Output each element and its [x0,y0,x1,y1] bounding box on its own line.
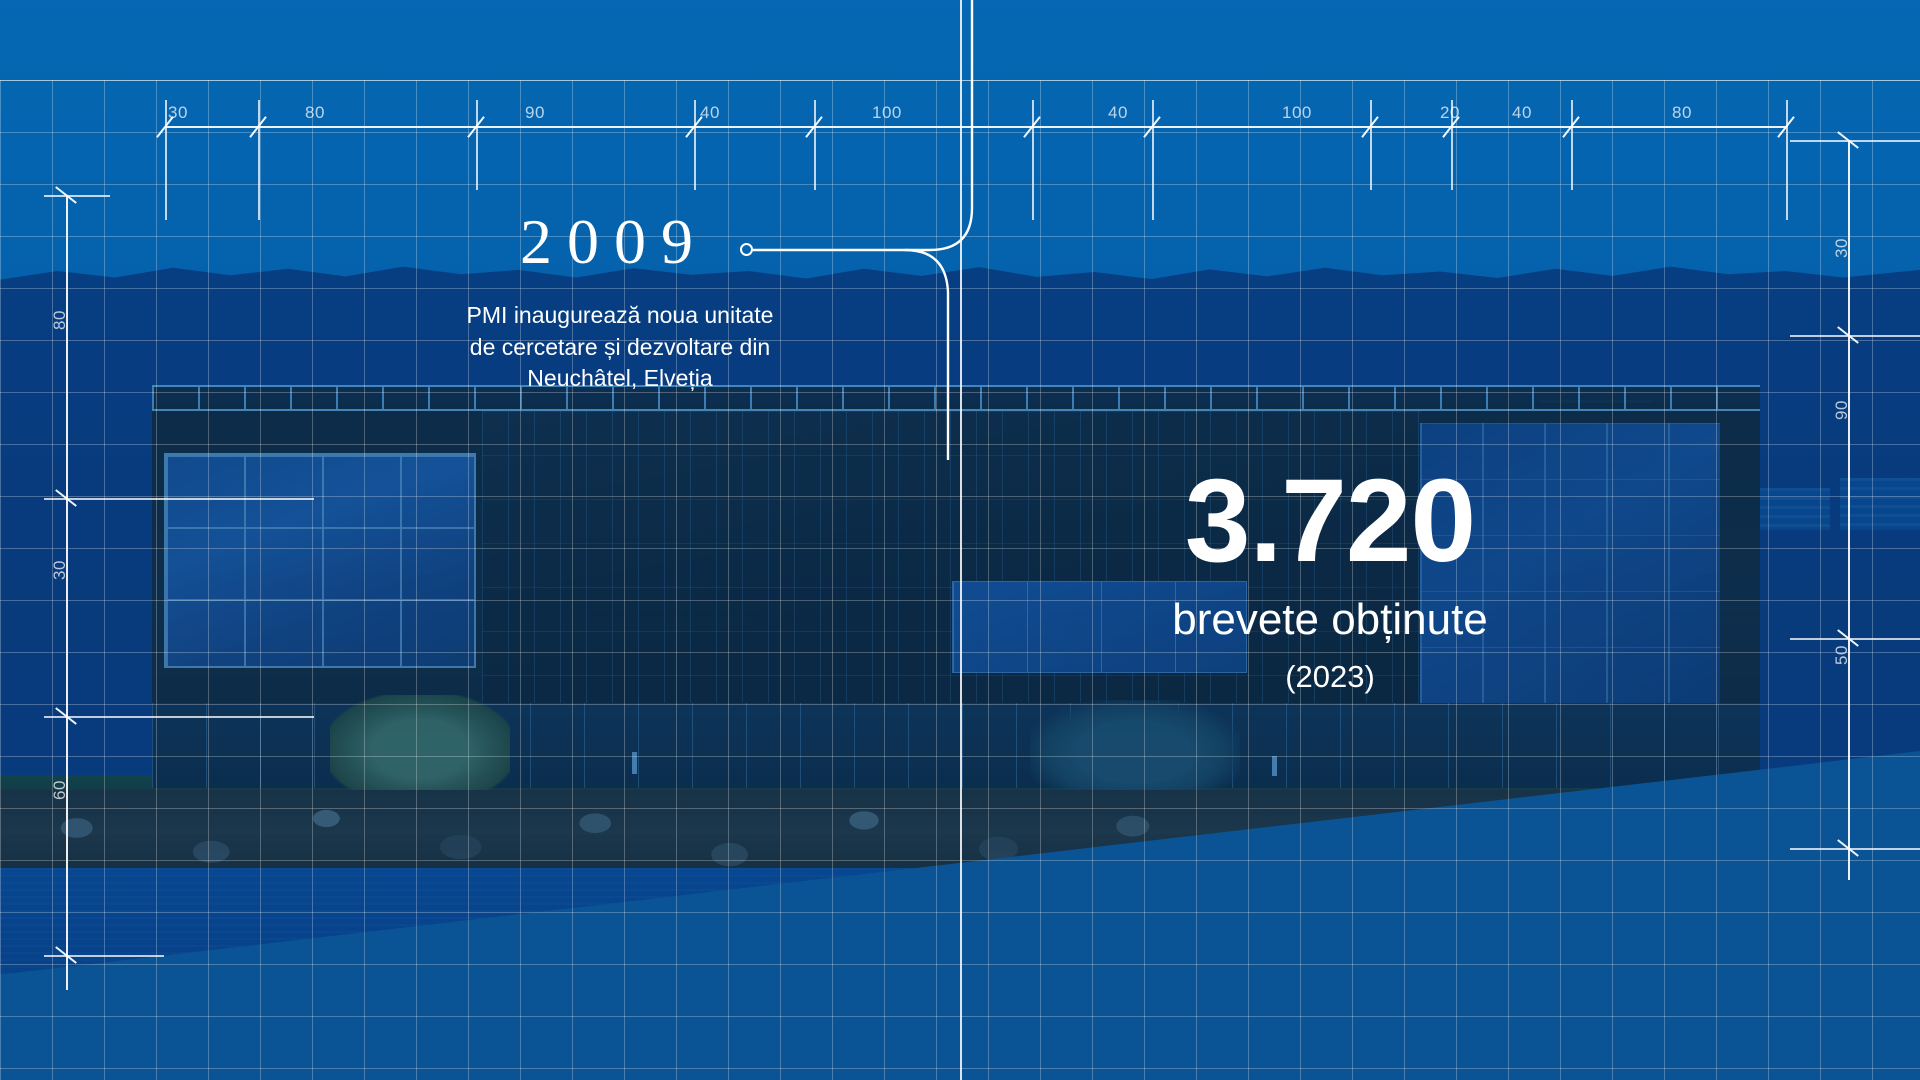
dim-label-top-9: 80 [1672,103,1692,123]
circle-node-icon [740,243,753,256]
dim-label-right-1: 90 [1832,400,1852,420]
statistic-year: (2023) [1000,659,1660,695]
center-seam-line [960,0,962,1080]
caption-line-2: de cercetare și dezvoltare din [440,332,800,364]
dim-label-top-4: 100 [872,103,902,123]
dim-label-top-2: 90 [525,103,545,123]
milestone-caption: PMI inaugurează noua unitate de cercetar… [440,300,800,395]
dim-label-right-2: 50 [1832,645,1852,665]
dim-label-top-8: 40 [1512,103,1532,123]
dim-label-top-5: 40 [1108,103,1128,123]
dim-label-left-0: 80 [50,310,70,330]
dim-label-top-3: 40 [700,103,720,123]
milestone-year: 2009 [520,205,708,279]
dim-label-right-0: 30 [1832,238,1852,258]
dim-label-top-6: 100 [1282,103,1312,123]
dim-label-top-0: 30 [168,103,188,123]
statistic-block: 3.720 brevete obținute (2023) [1000,462,1660,695]
statistic-number: 3.720 [1000,462,1660,580]
dim-label-left-2: 60 [50,780,70,800]
dim-label-top-1: 80 [305,103,325,123]
hero-banner: 30 80 90 40 100 40 100 20 40 80 80 30 60 [0,0,1920,1080]
caption-line-1: PMI inaugurează noua unitate [440,300,800,332]
dim-label-left-1: 30 [50,560,70,580]
dim-label-top-7: 20 [1440,103,1460,123]
statistic-label: brevete obținute [1000,594,1660,647]
caption-line-3: Neuchâtel, Elveția [440,363,800,395]
